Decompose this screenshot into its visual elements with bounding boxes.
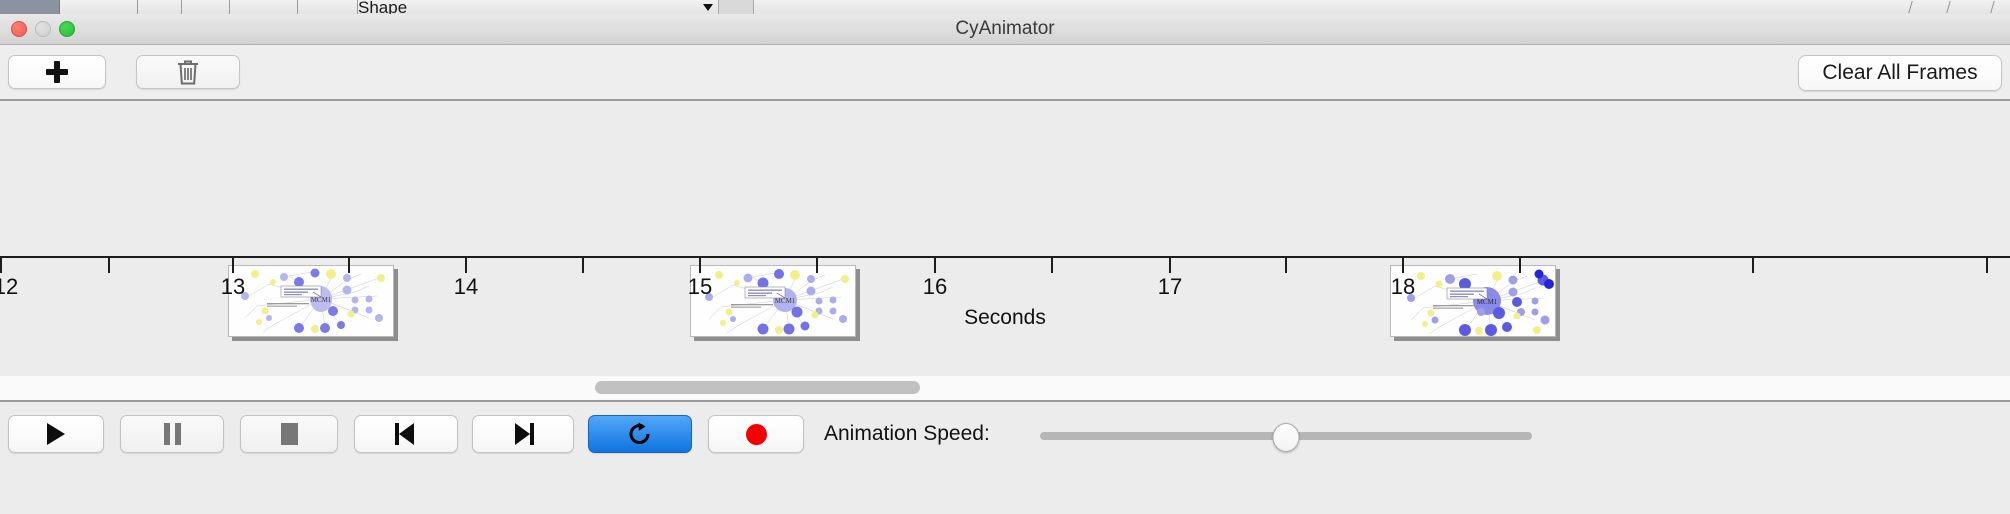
bg-tab-4	[230, 0, 298, 14]
record-button[interactable]	[708, 415, 804, 453]
axis-tick-15	[699, 258, 701, 273]
timeline-axis	[0, 256, 2010, 258]
axis-minor-tick	[1752, 258, 1754, 273]
axis-tick-16	[934, 258, 936, 273]
skip-to-start-button[interactable]	[354, 415, 458, 453]
pause-icon	[164, 423, 181, 445]
axis-label-18: 18	[1391, 274, 1415, 300]
axis-tick-17	[1169, 258, 1171, 273]
animation-speed-slider-thumb[interactable]	[1273, 423, 1300, 452]
bg-window-label: Shape	[358, 0, 407, 15]
bg-tab-3	[182, 0, 230, 14]
bg-tab-2	[138, 0, 182, 14]
axis-label-14: 14	[454, 274, 478, 300]
trash-icon	[176, 59, 200, 86]
axis-label-15: 15	[688, 274, 712, 300]
bg-tab-1	[60, 0, 138, 14]
timeline-panel[interactable]: MCM1	[0, 101, 2010, 376]
background-window-strip: Shape	[0, 0, 2010, 15]
axis-label-12: 12	[0, 274, 18, 300]
axis-minor-tick	[1519, 258, 1521, 273]
window-title: CyAnimator	[0, 18, 2010, 40]
titlebar: CyAnimator	[0, 14, 2010, 45]
cyanimator-window: CyAnimator Clear All Frames	[0, 14, 2010, 510]
delete-frame-button[interactable]	[136, 55, 240, 89]
stop-button[interactable]	[240, 415, 338, 453]
timeline-scrollbar[interactable]	[0, 376, 2010, 402]
axis-label-16: 16	[923, 274, 947, 300]
plus-icon	[46, 61, 68, 83]
animation-speed-label: Animation Speed:	[824, 422, 990, 446]
axis-minor-tick	[816, 258, 818, 273]
clear-all-frames-button[interactable]: Clear All Frames	[1798, 55, 2002, 91]
bg-tab-5	[298, 0, 358, 14]
axis-minor-tick	[1986, 258, 1988, 273]
bg-scroll-notch	[718, 0, 754, 14]
add-frame-button[interactable]	[8, 55, 106, 89]
axis-minor-tick	[1051, 258, 1053, 273]
skip-to-end-button[interactable]	[472, 415, 574, 453]
axis-tick-12	[0, 258, 2, 273]
axis-label-13: 13	[221, 274, 245, 300]
play-button[interactable]	[8, 415, 104, 453]
axis-minor-tick	[348, 258, 350, 273]
play-icon	[47, 423, 65, 445]
bg-caret-icon	[703, 4, 713, 11]
bg-divider-3	[1990, 1, 1994, 13]
animation-speed-slider[interactable]	[1040, 432, 1532, 440]
playback-bar: Animation Speed:	[0, 402, 2010, 514]
stop-icon	[281, 423, 298, 445]
skip-back-icon	[395, 423, 417, 445]
record-icon	[746, 424, 767, 445]
timeline-scrollbar-thumb[interactable]	[595, 381, 920, 394]
bg-divider-2	[1946, 1, 1950, 13]
pause-button[interactable]	[120, 415, 224, 453]
axis-tick-14	[465, 258, 467, 273]
axis-title: Seconds	[0, 306, 2010, 330]
skip-forward-icon	[512, 423, 534, 445]
axis-minor-tick	[582, 258, 584, 273]
axis-label-17: 17	[1158, 274, 1182, 300]
bg-divider-1	[1908, 1, 1912, 13]
bg-tab-selected	[0, 0, 60, 14]
loop-button[interactable]	[588, 415, 692, 453]
axis-minor-tick	[1285, 258, 1287, 273]
toolbar: Clear All Frames	[0, 45, 2010, 101]
axis-tick-13	[232, 258, 234, 273]
loop-icon	[627, 421, 653, 447]
axis-minor-tick	[108, 258, 110, 273]
axis-tick-18	[1402, 258, 1404, 273]
